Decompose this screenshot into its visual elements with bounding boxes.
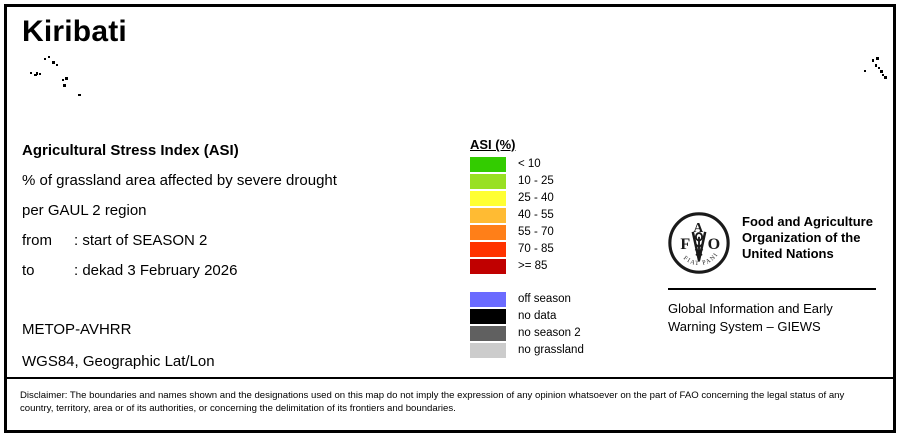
- legend-swatch: [470, 259, 506, 274]
- legend-row: 40 - 55: [470, 207, 584, 224]
- description-heading: Agricultural Stress Index (ASI): [22, 143, 337, 158]
- legend-row: off season: [470, 291, 584, 308]
- projection-label: WGS84, Geographic Lat/Lon: [22, 354, 215, 369]
- organization-name-line-2: Organization of the: [742, 230, 873, 246]
- legend-swatch: [470, 208, 506, 223]
- legend-swatch: [470, 326, 506, 341]
- disclaimer-text: Disclaimer: The boundaries and names sho…: [20, 389, 880, 415]
- legend-row: 25 - 40: [470, 190, 584, 207]
- legend-swatch: [470, 157, 506, 172]
- map-poster: Kiribati Agricultural Stress Index (ASI)…: [0, 0, 900, 437]
- legend-swatch: [470, 225, 506, 240]
- legend-row: no grassland: [470, 342, 584, 359]
- period-to-value: : dekad 3 February 2026: [74, 262, 237, 279]
- legend-swatch: [470, 242, 506, 257]
- period-to: to: dekad 3 February 2026: [22, 263, 337, 278]
- period-from-label: from: [22, 233, 74, 248]
- map-description: Agricultural Stress Index (ASI) % of gra…: [22, 143, 337, 293]
- legend-swatch: [470, 174, 506, 189]
- legend-row: < 10: [470, 156, 584, 173]
- legend-classes: < 1010 - 2525 - 4040 - 5555 - 7070 - 85>…: [470, 156, 584, 275]
- organization-name-line-3: United Nations: [742, 246, 873, 262]
- legend-label: < 10: [518, 159, 541, 171]
- legend: ASI (%) < 1010 - 2525 - 4040 - 5555 - 70…: [470, 138, 584, 359]
- legend-row: >= 85: [470, 258, 584, 275]
- legend-swatch: [470, 292, 506, 307]
- legend-swatch: [470, 309, 506, 324]
- legend-label: 70 - 85: [518, 244, 554, 256]
- legend-swatch: [470, 191, 506, 206]
- organization-block: F A O FIAT PANIS: [668, 212, 880, 336]
- sensor-label: METOP-AVHRR: [22, 322, 215, 337]
- legend-label: 55 - 70: [518, 227, 554, 239]
- legend-swatch: [470, 343, 506, 358]
- legend-label: no season 2: [518, 328, 581, 340]
- description-line-2: per GAUL 2 region: [22, 203, 337, 218]
- legend-label: 40 - 55: [518, 210, 554, 222]
- legend-title: ASI (%): [470, 138, 584, 151]
- svg-text:F: F: [680, 236, 690, 253]
- disclaimer-divider: [7, 377, 893, 379]
- fao-emblem-icon: F A O FIAT PANIS: [668, 212, 730, 274]
- legend-label: no data: [518, 311, 556, 323]
- system-line-1: Global Information and Early: [668, 300, 880, 318]
- legend-row: no season 2: [470, 325, 584, 342]
- description-line-1: % of grassland area affected by severe d…: [22, 173, 337, 188]
- organization-name: Food and Agriculture Organization of the…: [742, 212, 873, 262]
- svg-text:O: O: [708, 236, 721, 253]
- period-from-value: : start of SEASON 2: [74, 232, 207, 249]
- legend-label: no grassland: [518, 345, 584, 357]
- legend-label: >= 85: [518, 261, 547, 273]
- legend-row: 55 - 70: [470, 224, 584, 241]
- organization-system: Global Information and Early Warning Sys…: [668, 300, 880, 336]
- organization-name-line-1: Food and Agriculture: [742, 214, 873, 230]
- legend-row: 10 - 25: [470, 173, 584, 190]
- legend-label: 25 - 40: [518, 193, 554, 205]
- legend-label: 10 - 25: [518, 176, 554, 188]
- legend-special-classes: off seasonno datano season 2no grassland: [470, 291, 584, 359]
- page-title: Kiribati: [22, 17, 127, 47]
- period-to-label: to: [22, 263, 74, 278]
- legend-row: 70 - 85: [470, 241, 584, 258]
- period-from: from: start of SEASON 2: [22, 233, 337, 248]
- legend-label: off season: [518, 294, 571, 306]
- system-line-2: Warning System – GIEWS: [668, 318, 880, 336]
- legend-row: no data: [470, 308, 584, 325]
- organization-divider: [668, 288, 876, 290]
- organization-identity: F A O FIAT PANIS: [668, 212, 880, 274]
